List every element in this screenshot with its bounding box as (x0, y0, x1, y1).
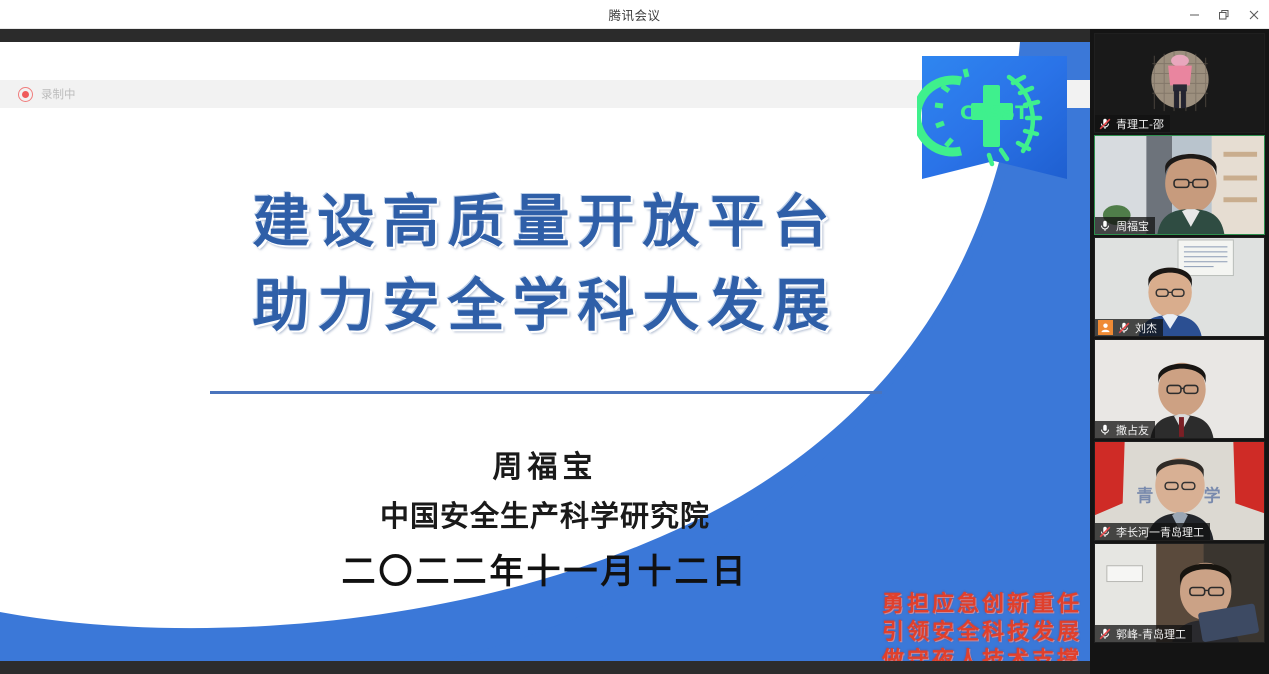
participant-name: 周福宝 (1116, 218, 1149, 234)
slogan-line-3: 做守夜人技术支撑 (882, 647, 1082, 661)
slide-organization: 中国安全生产科学研究院 (0, 489, 1090, 544)
slogan-line-2: 引领安全科技发展 (882, 619, 1082, 647)
recording-label: 录制中 (41, 86, 76, 102)
participant-name: 青理工-邵 (1116, 116, 1164, 132)
slide-title: 建设高质量开放平台 助力安全学科大发展 (0, 180, 1090, 349)
titlebar: 腾讯会议 (0, 0, 1269, 29)
microphone-muted-icon (1098, 117, 1112, 131)
participant-rail[interactable]: 青理工-邵 (1090, 29, 1269, 674)
slide-presenter-name: 周福宝 (0, 448, 1090, 489)
slide-presenter-block: 周福宝 中国安全生产科学研究院 二〇二二年十一月十二日 (0, 448, 1090, 600)
participant-name: 李长河一青岛理工 (1116, 524, 1204, 540)
participant-tile[interactable]: 青学 李长河一青岛理工 (1094, 441, 1265, 541)
microphone-muted-icon (1098, 627, 1112, 641)
microphone-icon (1098, 423, 1112, 437)
slide-slogan: 勇担应急创新重任 引领安全科技发展 做守夜人技术支撑 (882, 591, 1082, 661)
recording-indicator: 录制中 (18, 81, 76, 107)
participant-tile[interactable]: 周福宝 (1094, 135, 1265, 235)
participant-tile[interactable]: 青理工-邵 (1094, 33, 1265, 133)
minimize-icon (1189, 9, 1200, 20)
participant-nameplate: 青理工-邵 (1095, 115, 1170, 132)
participant-name: 刘杰 (1135, 320, 1157, 336)
slogan-line-1: 勇担应急创新重任 (882, 591, 1082, 619)
window-title: 腾讯会议 (608, 5, 660, 24)
participant-tile[interactable]: 刘杰 (1094, 237, 1265, 337)
slide-title-line-1: 建设高质量开放平台 (0, 180, 1090, 264)
participant-tile[interactable]: 郭峰-青岛理工 (1094, 543, 1265, 643)
microphone-muted-icon (1117, 321, 1131, 335)
slide-title-line-2: 助力安全学科大发展 (0, 264, 1090, 348)
close-icon (1248, 9, 1260, 21)
casst-logo: CASST (917, 51, 1072, 188)
restore-button[interactable] (1209, 0, 1239, 29)
tencent-meeting-window: 腾讯会议 (0, 0, 1269, 674)
meeting-body: 录制中 (0, 29, 1269, 674)
participant-nameplate: 撒占友 (1095, 421, 1155, 438)
presentation-slide: 录制中 (0, 42, 1090, 661)
close-button[interactable] (1239, 0, 1269, 29)
record-dot-icon (18, 87, 33, 102)
casst-logo-text: CASST (960, 102, 1028, 124)
participant-nameplate: 李长河一青岛理工 (1095, 523, 1210, 540)
svg-text:学: 学 (1204, 485, 1221, 505)
host-person-icon (1098, 320, 1113, 335)
minimize-button[interactable] (1179, 0, 1209, 29)
participant-nameplate: 周福宝 (1095, 217, 1155, 234)
participant-nameplate: 郭峰-青岛理工 (1095, 625, 1192, 642)
svg-text:青: 青 (1137, 485, 1154, 505)
slide-title-underline (210, 391, 882, 394)
shared-screen-stage[interactable]: 录制中 (0, 29, 1090, 674)
participant-tile[interactable]: 撒占友 (1094, 339, 1265, 439)
shared-window-top-strip (0, 29, 1090, 42)
restore-icon (1218, 9, 1230, 21)
window-controls (1179, 0, 1269, 29)
participant-name: 撒占友 (1116, 422, 1149, 438)
participant-nameplate: 刘杰 (1095, 319, 1163, 336)
participant-name: 郭峰-青岛理工 (1116, 626, 1186, 642)
microphone-icon (1098, 219, 1112, 233)
microphone-muted-icon (1098, 525, 1112, 539)
